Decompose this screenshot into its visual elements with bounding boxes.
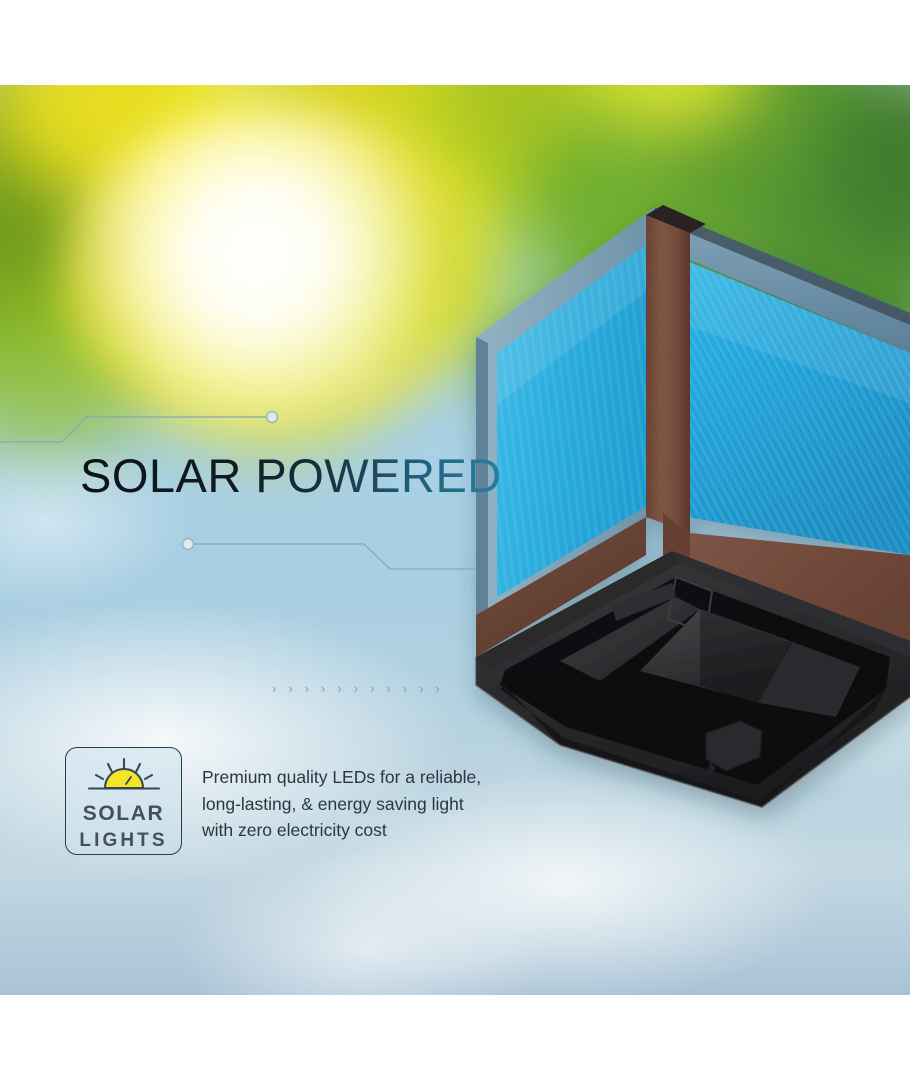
feature-line-1: Premium quality LEDs for a reliable, <box>202 764 481 791</box>
page-root: SOLAR POWERED › › › › › › › › › › › <box>0 0 910 1080</box>
chevron-arrows-icon: › › › › › › › › › › › <box>272 682 444 695</box>
feature-line-2: long-lasting, & energy saving light <box>202 791 481 818</box>
badge-line-1: SOLAR <box>83 803 165 824</box>
solar-lights-badge: SOLAR LIGHTS <box>65 747 182 855</box>
sun-icon <box>81 757 167 797</box>
page-title: SOLAR POWERED <box>80 452 502 499</box>
feature-callout: SOLAR LIGHTS Premium quality LEDs for a … <box>65 747 481 855</box>
badge-line-2: LIGHTS <box>79 831 167 850</box>
feature-line-3: with zero electricity cost <box>202 817 481 844</box>
cloud-haze <box>0 85 910 995</box>
product-banner-image: SOLAR POWERED › › › › › › › › › › › <box>0 85 910 995</box>
feature-description: Premium quality LEDs for a reliable, lon… <box>202 764 481 844</box>
